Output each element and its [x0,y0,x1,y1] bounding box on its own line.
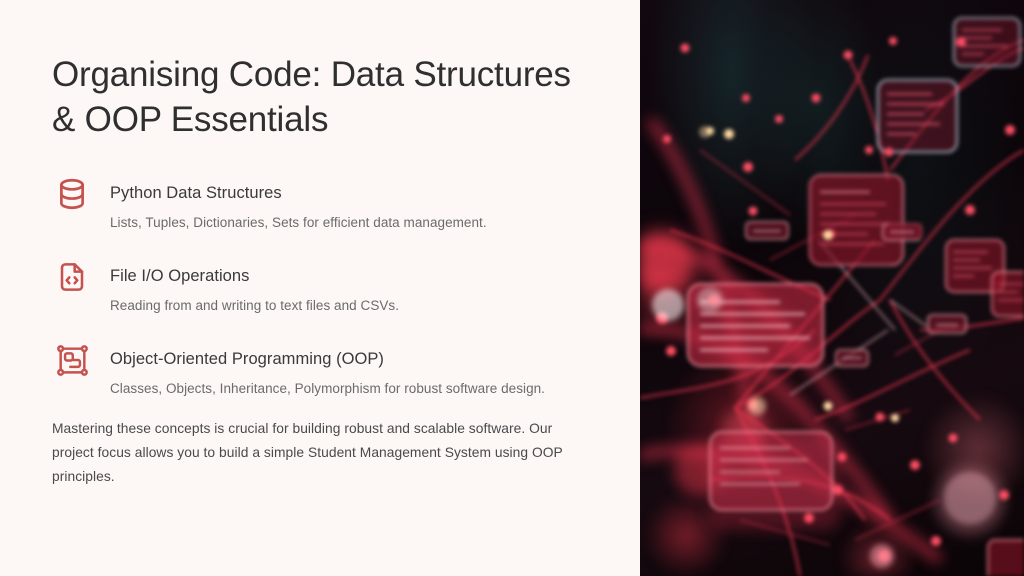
illustration-highlight-layer [640,0,1024,576]
feature-description: Reading from and writing to text files a… [110,296,600,316]
feature-item-oop: Object-Oriented Programming (OOP) Classe… [52,340,600,399]
feature-description: Lists, Tuples, Dictionaries, Sets for ef… [110,213,600,233]
illustration-canvas [640,0,1024,576]
feature-item-file-io: File I/O Operations Reading from and wri… [52,257,600,316]
page-title: Organising Code: Data Structures & OOP E… [52,52,600,142]
feature-title: File I/O Operations [110,257,600,288]
slide-root: Organising Code: Data Structures & OOP E… [0,0,1024,576]
feature-list: Python Data Structures Lists, Tuples, Di… [52,174,600,399]
object-group-icon [52,340,92,380]
feature-title: Python Data Structures [110,174,600,205]
file-code-icon [52,257,92,297]
feature-item-data-structures: Python Data Structures Lists, Tuples, Di… [52,174,600,233]
network-graph-illustration [640,0,1024,576]
feature-description: Classes, Objects, Inheritance, Polymorph… [110,379,600,399]
summary-paragraph: Mastering these concepts is crucial for … [52,417,597,489]
content-panel: Organising Code: Data Structures & OOP E… [0,0,640,576]
database-icon [52,174,92,214]
feature-title: Object-Oriented Programming (OOP) [110,340,600,371]
